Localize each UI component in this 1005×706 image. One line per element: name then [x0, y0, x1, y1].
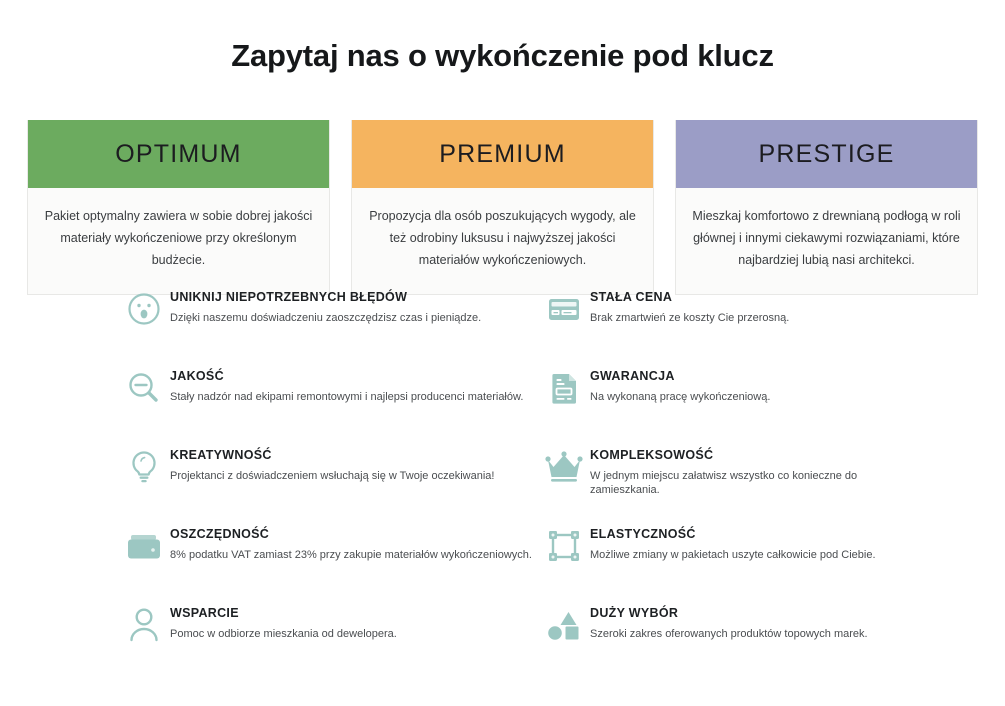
feature-item: DUŻY WYBÓR Szeroki zakres oferowanych pr…: [538, 600, 928, 679]
package-name-premium: PREMIUM: [439, 140, 565, 169]
page-title: Zapytaj nas o wykończenie pod klucz: [0, 38, 1005, 74]
feature-title: WSPARCIE: [170, 606, 397, 620]
surprised-face-icon: [118, 286, 170, 332]
feature-text: KOMPLEKSOWOŚĆ W jednym miejscu załatwisz…: [590, 442, 928, 498]
feature-text: GWARANCJA Na wykonaną pracę wykończeniow…: [590, 363, 770, 404]
package-card-optimum[interactable]: OPTIMUM Pakiet optymalny zawiera w sobie…: [27, 120, 330, 295]
package-card-prestige[interactable]: PRESTIGE Mieszkaj komfortowo z drewnianą…: [675, 120, 978, 295]
feature-item: STAŁA CENA Brak zmartwień ze koszty Cie …: [538, 284, 928, 363]
transform-frame-icon: [538, 523, 590, 569]
package-description-prestige: Mieszkaj komfortowo z drewnianą podłogą …: [692, 206, 961, 272]
feature-item: JAKOŚĆ Stały nadzór nad ekipami remontow…: [118, 363, 538, 442]
package-description-optimum: Pakiet optymalny zawiera w sobie dobrej …: [44, 206, 313, 272]
feature-list: UNIKNIJ NIEPOTRZEBNYCH BŁĘDÓW Dzięki nas…: [118, 284, 928, 679]
credit-card-icon: [538, 286, 590, 332]
crown-icon: [538, 444, 590, 490]
package-description-premium: Propozycja dla osób poszukujących wygody…: [368, 206, 637, 272]
feature-title: OSZCZĘDNOŚĆ: [170, 527, 532, 541]
feature-item: UNIKNIJ NIEPOTRZEBNYCH BŁĘDÓW Dzięki nas…: [118, 284, 538, 363]
feature-text: WSPARCIE Pomoc w odbiorze mieszkania od …: [170, 600, 397, 641]
magnifier-minus-icon: [118, 365, 170, 411]
feature-title: JAKOŚĆ: [170, 369, 523, 383]
feature-title: KOMPLEKSOWOŚĆ: [590, 448, 928, 462]
package-body-premium: Propozycja dla osób poszukujących wygody…: [352, 188, 653, 294]
feature-desc: 8% podatku VAT zamiast 23% przy zakupie …: [170, 548, 532, 562]
package-header-optimum: OPTIMUM: [28, 120, 329, 188]
feature-title: DUŻY WYBÓR: [590, 606, 868, 620]
feature-item: WSPARCIE Pomoc w odbiorze mieszkania od …: [118, 600, 538, 679]
feature-text: OSZCZĘDNOŚĆ 8% podatku VAT zamiast 23% p…: [170, 521, 532, 562]
feature-title: KREATYWNOŚĆ: [170, 448, 494, 462]
package-header-premium: PREMIUM: [352, 120, 653, 188]
package-card-premium[interactable]: PREMIUM Propozycja dla osób poszukującyc…: [351, 120, 654, 295]
feature-item: OSZCZĘDNOŚĆ 8% podatku VAT zamiast 23% p…: [118, 521, 538, 600]
feature-desc: Dzięki naszemu doświadczeniu zaoszczędzi…: [170, 311, 481, 325]
package-name-optimum: OPTIMUM: [115, 140, 241, 169]
feature-item: ELASTYCZNOŚĆ Możliwe zmiany w pakietach …: [538, 521, 928, 600]
package-body-optimum: Pakiet optymalny zawiera w sobie dobrej …: [28, 188, 329, 294]
feature-item: GWARANCJA Na wykonaną pracę wykończeniow…: [538, 363, 928, 442]
feature-text: DUŻY WYBÓR Szeroki zakres oferowanych pr…: [590, 600, 868, 641]
lightbulb-icon: [118, 444, 170, 490]
feature-desc: Szeroki zakres oferowanych produktów top…: [590, 627, 868, 641]
feature-desc: Możliwe zmiany w pakietach uszyte całkow…: [590, 548, 876, 562]
package-name-prestige: PRESTIGE: [758, 140, 894, 169]
feature-text: UNIKNIJ NIEPOTRZEBNYCH BŁĘDÓW Dzięki nas…: [170, 284, 481, 325]
feature-desc: Na wykonaną pracę wykończeniową.: [590, 390, 770, 404]
landing-page: Zapytaj nas o wykończenie pod klucz OPTI…: [0, 0, 1005, 706]
wallet-icon: [118, 523, 170, 569]
person-icon: [118, 602, 170, 648]
feature-item: KOMPLEKSOWOŚĆ W jednym miejscu załatwisz…: [538, 442, 928, 521]
document-icon: [538, 365, 590, 411]
feature-desc: W jednym miejscu załatwisz wszystko co k…: [590, 469, 928, 498]
package-cards: OPTIMUM Pakiet optymalny zawiera w sobie…: [27, 120, 978, 295]
feature-text: ELASTYCZNOŚĆ Możliwe zmiany w pakietach …: [590, 521, 876, 562]
feature-text: KREATYWNOŚĆ Projektanci z doświadczeniem…: [170, 442, 494, 483]
feature-title: GWARANCJA: [590, 369, 770, 383]
feature-desc: Stały nadzór nad ekipami remontowymi i n…: [170, 390, 523, 404]
feature-text: STAŁA CENA Brak zmartwień ze koszty Cie …: [590, 284, 789, 325]
feature-title: ELASTYCZNOŚĆ: [590, 527, 876, 541]
feature-item: KREATYWNOŚĆ Projektanci z doświadczeniem…: [118, 442, 538, 521]
feature-text: JAKOŚĆ Stały nadzór nad ekipami remontow…: [170, 363, 523, 404]
feature-desc: Brak zmartwień ze koszty Cie przerosną.: [590, 311, 789, 325]
package-header-prestige: PRESTIGE: [676, 120, 977, 188]
feature-title: UNIKNIJ NIEPOTRZEBNYCH BŁĘDÓW: [170, 290, 481, 304]
package-body-prestige: Mieszkaj komfortowo z drewnianą podłogą …: [676, 188, 977, 294]
feature-desc: Projektanci z doświadczeniem wsłuchają s…: [170, 469, 494, 483]
shapes-icon: [538, 602, 590, 648]
feature-desc: Pomoc w odbiorze mieszkania od deweloper…: [170, 627, 397, 641]
feature-title: STAŁA CENA: [590, 290, 789, 304]
